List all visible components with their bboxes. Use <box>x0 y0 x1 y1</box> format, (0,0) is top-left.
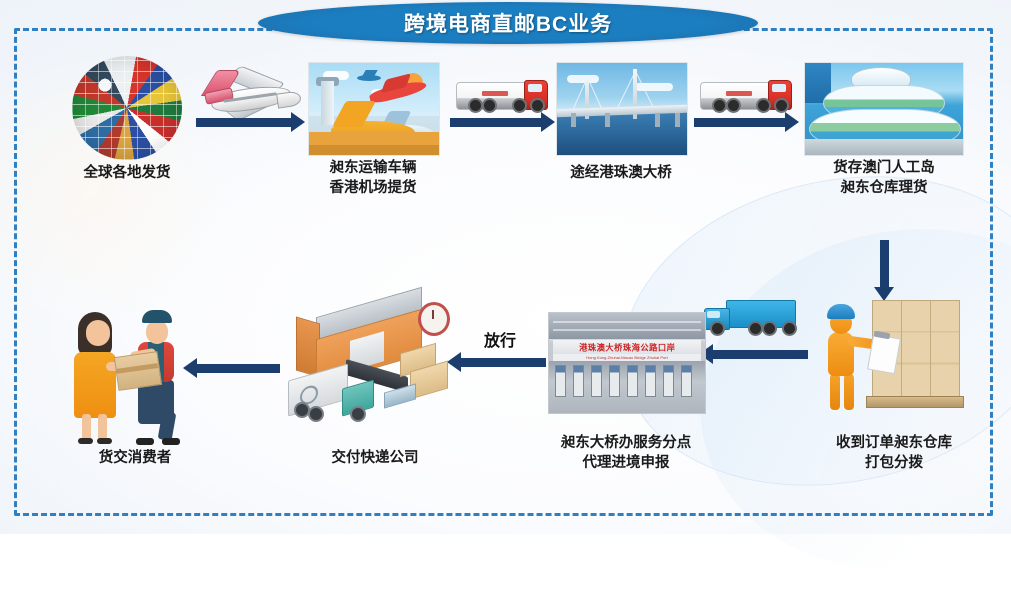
truck-logo <box>726 91 752 96</box>
globe-grid-overlay <box>72 56 182 160</box>
truck-wheel-4 <box>774 98 789 113</box>
control-tower <box>321 81 334 125</box>
courier-handing-parcel-icon <box>68 302 198 448</box>
truck-wheel-3 <box>756 98 771 113</box>
step2-caption-line1: 昶东运输车辆 <box>293 158 453 178</box>
small-plane-icon <box>357 75 381 81</box>
world-flags-globe-icon <box>72 56 182 160</box>
truck-logo <box>482 91 508 96</box>
customs-sign-subtext: Hong Kong-Zhuhai-Macao Bridge Zhuhai Por… <box>553 354 701 361</box>
lane-booth-6 <box>645 365 656 397</box>
customs-sign: 港珠澳大桥珠海公路口岸 <box>553 340 701 354</box>
bridge-pier-4 <box>675 113 680 127</box>
inspection-lanes <box>549 361 705 413</box>
step4-caption-line2: 昶东仓库理货 <box>800 178 968 198</box>
blue-container-truck-icon <box>704 300 804 334</box>
delivery-wheel-2 <box>308 406 324 422</box>
island-road <box>805 139 963 155</box>
warehouse-delivery-truck-icon <box>288 296 458 420</box>
arrow-step6-to-step7 <box>460 358 546 367</box>
red-cab-truck-icon-2 <box>700 78 804 112</box>
hard-hat-icon <box>827 304 855 319</box>
step5-caption-line2: 打包分拨 <box>803 453 985 473</box>
consumer-face <box>86 320 110 346</box>
lane-booth-4 <box>609 365 620 397</box>
step5-caption-line1: 收到订单昶东仓库 <box>803 433 985 453</box>
pallet-base <box>866 396 964 408</box>
step4-caption-line1: 货存澳门人工岛 <box>800 158 968 178</box>
lane-booth-8 <box>681 365 692 397</box>
arrow-step4-to-step5 <box>880 240 889 288</box>
truck-wheel-3 <box>512 98 527 113</box>
diagram-canvas: 跨境电商直邮BC业务 全球各地发货 昶东运输车辆 香港机场提货 <box>0 0 1011 534</box>
truck-wheel-2 <box>482 98 497 113</box>
blue-truck-wheel-1 <box>710 321 725 336</box>
checkpoint-roof <box>549 313 705 339</box>
courier-shoe-left <box>136 438 154 445</box>
customs-sign-text: 港珠澳大桥珠海公路口岸 <box>579 341 675 353</box>
cloud-icon-3 <box>567 75 599 83</box>
lane-booth-2 <box>573 365 584 397</box>
airport-terminal-icon <box>308 62 440 156</box>
clock-icon <box>418 302 450 336</box>
step1-caption: 全球各地发货 <box>47 163 207 183</box>
consumer-leg-right <box>98 414 107 440</box>
courier-shoe-right <box>162 438 180 445</box>
bridge-pier-1 <box>571 113 576 127</box>
courier-face <box>146 320 168 344</box>
worker-leg-left <box>830 374 840 410</box>
truck-window <box>772 84 786 92</box>
page-title: 跨境电商直邮BC业务 <box>404 8 612 38</box>
step6-caption-line2: 代理进境申报 <box>523 453 729 473</box>
courier-cap <box>142 310 172 323</box>
arrow-step5-to-step6 <box>712 350 808 359</box>
step6-caption-line1: 昶东大桥办服务分点 <box>523 433 729 453</box>
truck-wheel-1 <box>468 98 483 113</box>
bridge-pier-3 <box>655 113 660 127</box>
worker-leg-right <box>844 374 854 410</box>
arrow-step7-to-step8 <box>196 364 280 373</box>
arrow-step2-to-step3 <box>450 118 542 127</box>
consumer-leg-left <box>82 414 91 440</box>
blue-truck-wheel-2 <box>748 321 763 336</box>
roof-line-2 <box>553 329 701 331</box>
box-seam-2 <box>930 301 931 397</box>
arrow-step1-to-step2 <box>196 118 292 127</box>
box-seam-1 <box>901 301 902 397</box>
blue-truck-wheel-3 <box>762 321 777 336</box>
truck-window <box>528 84 542 92</box>
delivery-wheel-3 <box>350 406 366 422</box>
step8-caption: 货交消费者 <box>55 448 215 468</box>
blue-truck-wheel-4 <box>782 321 797 336</box>
artificial-island-building-icon <box>804 62 964 156</box>
title-banner: 跨境电商直邮BC业务 <box>258 2 758 44</box>
warehouse-worker-pallet-icon <box>818 296 968 416</box>
runway-strip <box>309 132 439 145</box>
release-label: 放行 <box>484 327 516 351</box>
truck-wheel-4 <box>530 98 545 113</box>
blue-truck-window <box>707 311 720 318</box>
runway-base <box>309 145 439 155</box>
consumer-shoe-right <box>97 438 112 444</box>
cable-stay-bridge-icon <box>556 62 688 156</box>
airplane-icon <box>205 62 305 122</box>
roof-line-1 <box>553 321 701 323</box>
bridge-deck <box>557 105 687 118</box>
truck-wheel-2 <box>726 98 741 113</box>
truck-wheel-1 <box>712 98 727 113</box>
arrow-step3-to-step4 <box>694 118 786 127</box>
lane-booth-3 <box>591 365 602 397</box>
step7-caption: 交付快递公司 <box>295 448 455 468</box>
lane-booth-7 <box>663 365 674 397</box>
lane-booth-5 <box>627 365 638 397</box>
airplane-nose <box>276 90 302 108</box>
red-cab-truck-icon-1 <box>456 78 560 112</box>
bridge-pier-2 <box>605 113 610 127</box>
customs-checkpoint-icon: 港珠澳大桥珠海公路口岸 Hong Kong-Zhuhai-Macao Bridg… <box>548 312 706 414</box>
consumer-shoe-left <box>78 438 93 444</box>
step2-caption-line2: 香港机场提货 <box>293 178 453 198</box>
step3-caption: 途经港珠澳大桥 <box>541 163 701 183</box>
lane-booth-1 <box>555 365 566 397</box>
